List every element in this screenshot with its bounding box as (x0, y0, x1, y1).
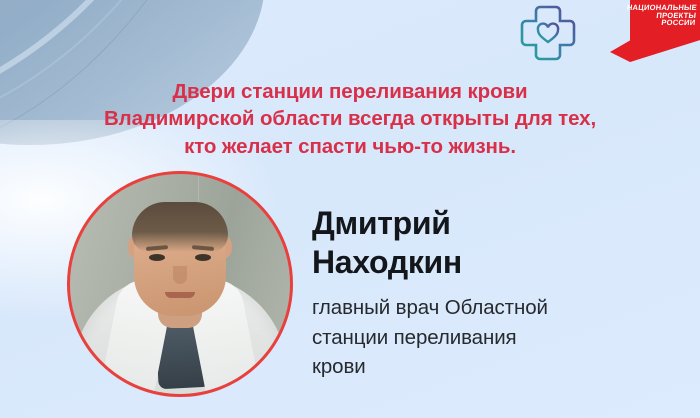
headline: Двери станции переливания крови Владимир… (0, 78, 700, 160)
person-role-line-2: станции переливания (312, 323, 692, 353)
headline-line-2: Владимирской области всегда открыты для … (0, 105, 700, 132)
headline-line-3: кто желает спасти чью-то жизнь. (0, 133, 700, 160)
national-projects-russia-logo: НАЦИОНАЛЬНЫЕ ПРОЕКТЫ РОССИИ (606, 0, 700, 62)
person-role-line-1: главный врач Областной (312, 293, 692, 323)
headline-line-1: Двери станции переливания крови (0, 78, 700, 105)
portrait-ring (67, 171, 293, 397)
person-role-line-3: крови (312, 352, 692, 382)
national-projects-text: НАЦИОНАЛЬНЫЕ ПРОЕКТЫ РОССИИ (625, 4, 698, 27)
np-line-3: РОССИИ (625, 19, 696, 27)
person-role: главный врач Областной станции переливан… (312, 293, 692, 382)
person-name-line-1: Дмитрий (312, 204, 462, 243)
medical-cross-heart-icon (519, 4, 577, 62)
portrait (67, 171, 293, 397)
person-name: Дмитрий Находкин (312, 204, 462, 282)
poster-canvas: НАЦИОНАЛЬНЫЕ ПРОЕКТЫ РОССИИ Двери станци… (0, 0, 700, 418)
person-name-line-2: Находкин (312, 243, 462, 282)
